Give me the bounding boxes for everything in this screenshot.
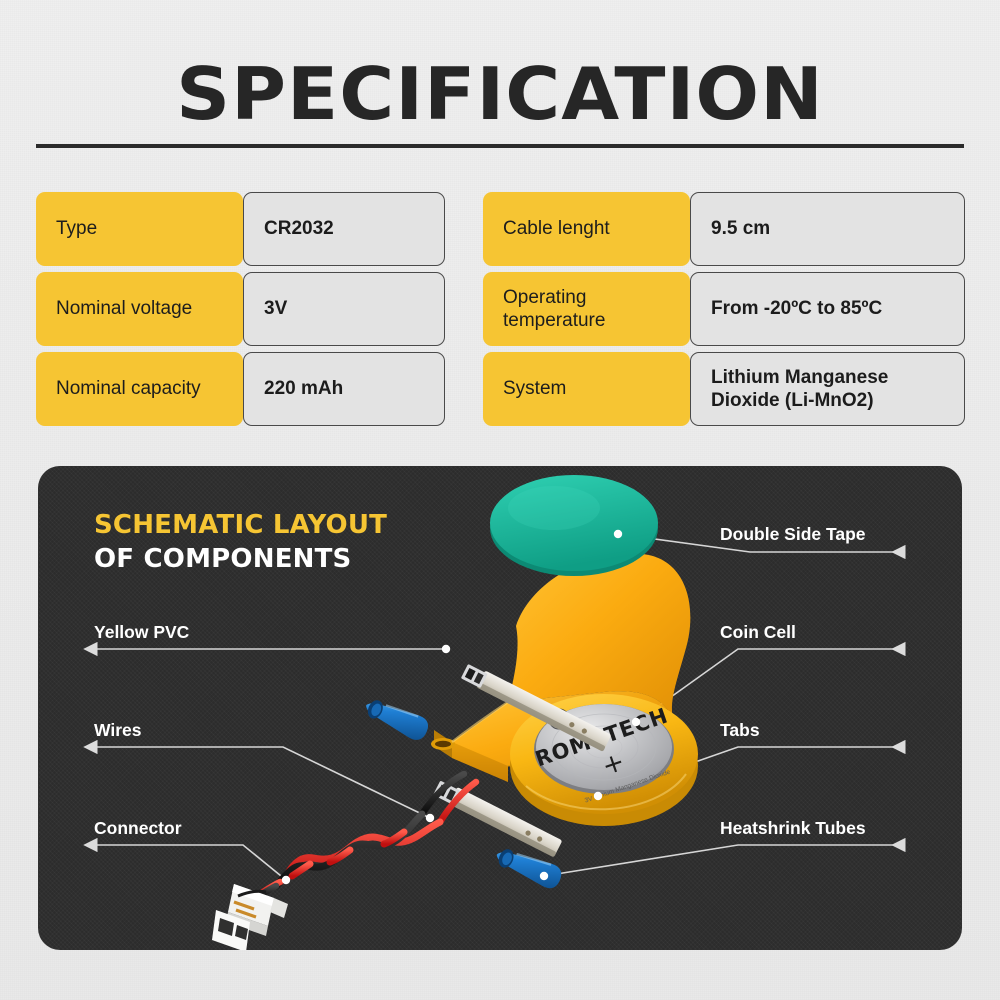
exploded-diagram: ROMETECH + 3V Lithium Manganese Dioxide … <box>38 466 962 950</box>
spec-value-cable-length: 9.5 cm <box>690 192 965 266</box>
leader-wires <box>96 747 430 818</box>
specification-table: Type CR2032 Cable lenght 9.5 cm Nominal … <box>36 192 964 426</box>
spec-key-nominal-capacity: Nominal capacity <box>36 352 243 426</box>
heatshrink-tube-upper <box>361 694 431 743</box>
leader-double-side-tape <box>618 534 904 552</box>
column-gap <box>445 352 483 426</box>
infographic-page: SPECIFICATION Type CR2032 Cable lenght 9… <box>0 0 1000 1000</box>
spec-value-system: Lithium Manganese Dioxide (Li-MnO2) <box>690 352 965 426</box>
spec-value-nominal-voltage: 3V <box>243 272 445 346</box>
spec-key-system: System <box>483 352 690 426</box>
spec-key-type: Type <box>36 192 243 266</box>
spec-key-nominal-voltage: Nominal voltage <box>36 272 243 346</box>
spec-value-operating-temperature: From -20ºC to 85ºC <box>690 272 965 346</box>
connector-housing <box>212 882 288 950</box>
leader-heatshrink-tubes <box>544 845 904 876</box>
column-gap <box>445 272 483 346</box>
schematic-panel: SCHEMATIC LAYOUT OF COMPONENTS Yellow PV… <box>38 466 962 950</box>
title-divider <box>36 144 964 148</box>
page-title: SPECIFICATION <box>0 52 1000 136</box>
leader-connector <box>96 845 286 880</box>
spec-key-cable-length: Cable lenght <box>483 192 690 266</box>
spec-value-type: CR2032 <box>243 192 445 266</box>
spec-value-nominal-capacity: 220 mAh <box>243 352 445 426</box>
double-side-tape-disc <box>490 475 658 576</box>
column-gap <box>445 192 483 266</box>
spec-key-operating-temperature: Operating temperature <box>483 272 690 346</box>
